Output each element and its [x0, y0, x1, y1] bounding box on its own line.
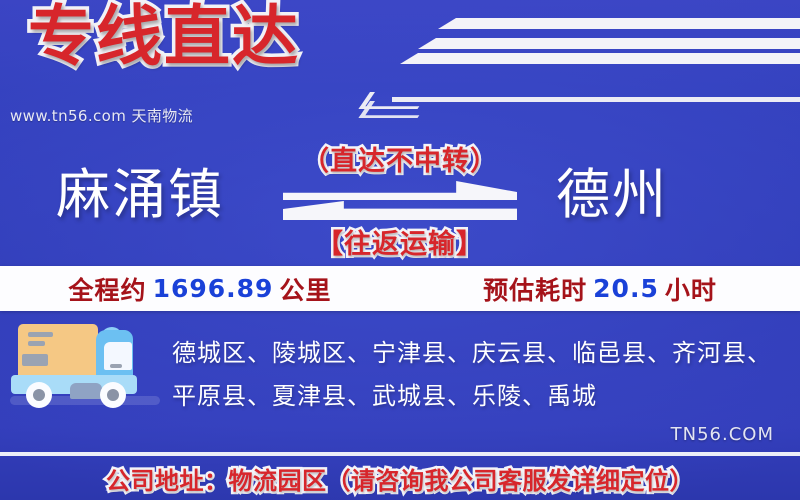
- truck-door-handle: [110, 364, 122, 368]
- truck-label-line-2: [28, 341, 45, 346]
- company-address-text: 公司地址：物流园区（请咨询我公司客服发详细定位）: [106, 461, 694, 496]
- speed-stripes-decoration: [380, 0, 800, 110]
- truck-wheel-front: [100, 382, 126, 408]
- watermark-label: TN56.COM: [671, 424, 774, 445]
- arrow-right-icon: [283, 181, 517, 200]
- trip-info-band: 全程约 1696.89 公里 预估耗时 20.5 小时: [0, 266, 800, 311]
- speed-stripe-3: [400, 53, 800, 64]
- truck-bumper: [70, 383, 102, 399]
- logistics-route-banner: 专线直达 www.tn56.com 天南物流 麻涌镇 德州 （直达不中转） 【往…: [0, 0, 800, 500]
- delivery-truck-icon: [8, 320, 163, 412]
- route-note-roundtrip: 【往返运输】: [0, 222, 800, 261]
- route-note-direct: （直达不中转）: [0, 139, 800, 178]
- distance-info: 全程约 1696.89 公里: [0, 266, 400, 311]
- banner-headline: 专线直达: [28, 4, 300, 70]
- website-and-company-line: www.tn56.com 天南物流: [10, 105, 193, 126]
- distance-unit: 公里: [279, 271, 331, 307]
- speed-stripe-1: [438, 18, 800, 29]
- distance-value: 1696.89: [153, 274, 274, 303]
- distance-label: 全程约: [69, 271, 147, 307]
- truck-label-block: [22, 354, 48, 366]
- duration-label: 预估耗时: [483, 271, 587, 307]
- footer-bar: 公司地址：物流园区（请咨询我公司客服发详细定位）: [0, 456, 800, 500]
- speed-stripe-2: [418, 38, 800, 49]
- coverage-area-list: 德城区、陵城区、宁津县、庆云县、临邑县、齐河县、平原县、夏津县、武城县、乐陵、禹…: [172, 332, 784, 418]
- duration-unit: 小时: [665, 271, 717, 307]
- header-divider-rule: [392, 97, 800, 102]
- duration-value: 20.5: [593, 274, 659, 303]
- arrow-left-icon: [283, 201, 517, 220]
- truck-wheel-rear: [26, 382, 52, 408]
- truck-label-line-1: [28, 332, 53, 337]
- double-arrow-exchange-icon: [283, 181, 517, 219]
- duration-info: 预估耗时 20.5 小时: [400, 266, 800, 311]
- chevron-down-icon: [370, 92, 424, 118]
